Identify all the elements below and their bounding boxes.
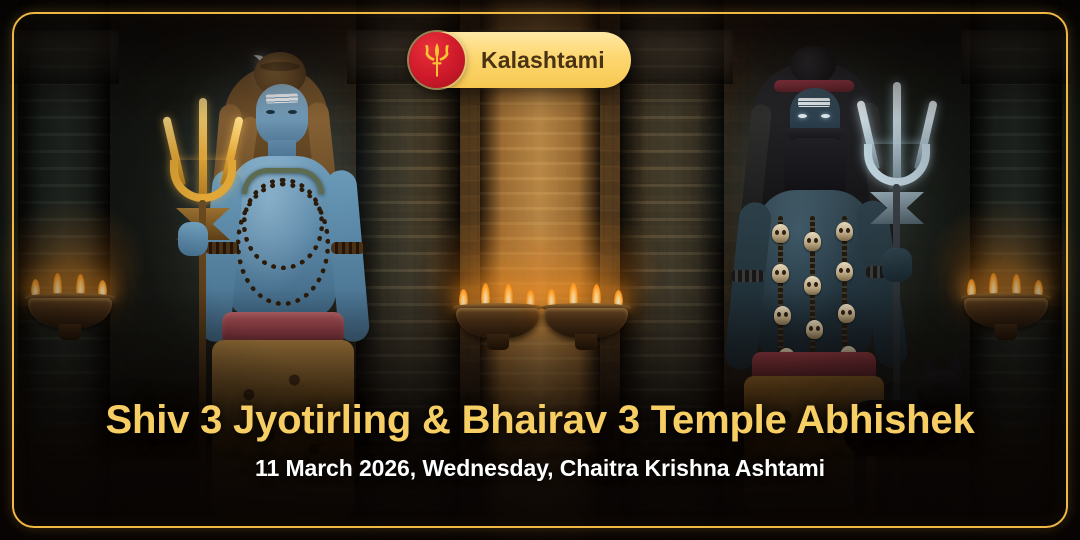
bhairav-eye [798,114,807,118]
trident-icon [409,32,465,88]
shiva-eye [288,110,297,114]
shiva-hand [178,222,208,256]
shiva-armband [331,242,365,254]
oil-lamp-diya [538,268,634,354]
bhairav-armband [731,270,765,282]
bhairav-eye [821,114,830,118]
oil-lamp-diya [22,258,118,344]
event-title: Shiv 3 Jyotirling & Bhairav 3 Temple Abh… [0,398,1080,443]
tripundra-tilak [266,93,298,103]
bhairav-hair-bun [790,46,836,84]
event-subtitle: 11 March 2026, Wednesday, Chaitra Krishn… [0,455,1080,482]
banner-text-block: Shiv 3 Jyotirling & Bhairav 3 Temple Abh… [0,398,1080,482]
shiva-eye [266,110,275,114]
badge-label: Kalashtami [481,47,605,74]
festival-badge[interactable]: Kalashtami [410,32,631,88]
tripundra-tilak [798,98,830,107]
bhairav-hand [882,248,912,282]
rudraksha-mala [236,182,330,306]
event-banner: Kalashtami Shiv 3 Jyotirling & Bhairav 3… [0,0,1080,540]
oil-lamp-diya [958,258,1054,344]
